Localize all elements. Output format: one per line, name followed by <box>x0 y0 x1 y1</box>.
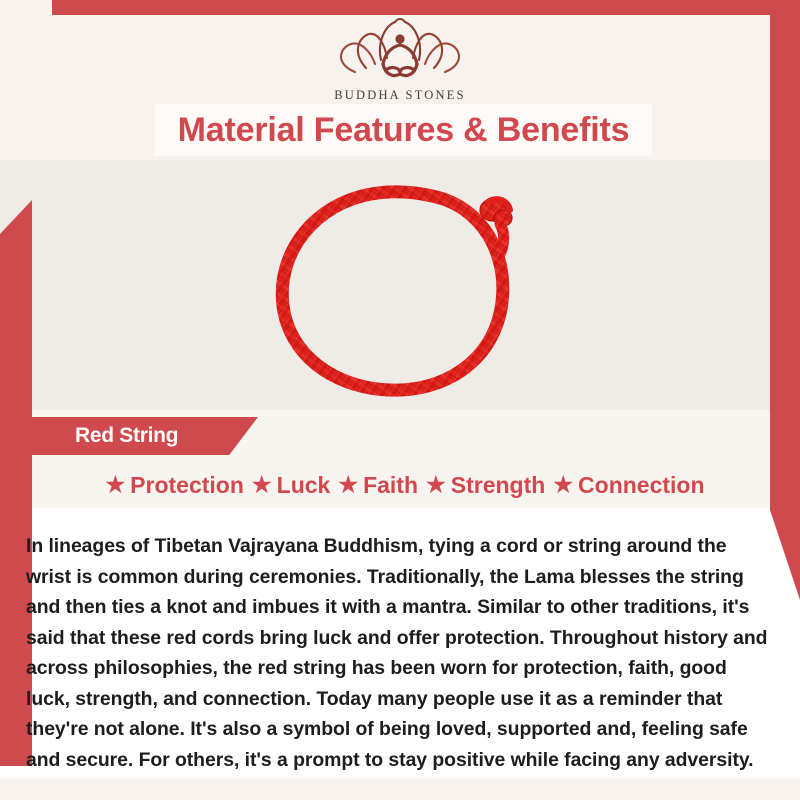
product-label: Red String <box>75 424 178 448</box>
poster-canvas: BUDDHA STONES Material Features & Benefi… <box>0 0 800 800</box>
benefit-item: ★ Connection <box>553 472 704 499</box>
benefit-item: ★ Protection <box>105 472 243 499</box>
benefit-item: ★ Faith <box>338 472 418 499</box>
brand-name: BUDDHA STONES <box>0 88 800 103</box>
headline-banner: Material Features & Benefits <box>155 104 652 156</box>
star-icon: ★ <box>553 474 573 496</box>
product-label-ribbon: Red String <box>18 417 258 455</box>
brand-logo: BUDDHA STONES <box>0 14 800 103</box>
benefit-label: Connection <box>578 472 705 499</box>
description-text: In lineages of Tibetan Vajrayana Buddhis… <box>26 531 774 775</box>
page-title: Material Features & Benefits <box>178 111 630 150</box>
star-icon: ★ <box>105 474 125 496</box>
lotus-meditating-figure-icon <box>0 14 800 86</box>
benefit-label: Faith <box>363 472 418 499</box>
benefit-item: ★ Strength <box>426 472 545 499</box>
star-icon: ★ <box>426 474 446 496</box>
benefit-label: Luck <box>277 472 331 499</box>
star-icon: ★ <box>252 474 272 496</box>
product-image <box>160 162 640 412</box>
benefits-list: ★ Protection ★ Luck ★ Faith ★ Strength ★… <box>40 468 770 502</box>
benefit-item: ★ Luck <box>252 472 330 499</box>
benefit-label: Strength <box>451 472 546 499</box>
decorative-border-top <box>52 0 800 15</box>
star-icon: ★ <box>338 474 358 496</box>
benefit-label: Protection <box>130 472 244 499</box>
background-plate-footer <box>0 778 800 800</box>
